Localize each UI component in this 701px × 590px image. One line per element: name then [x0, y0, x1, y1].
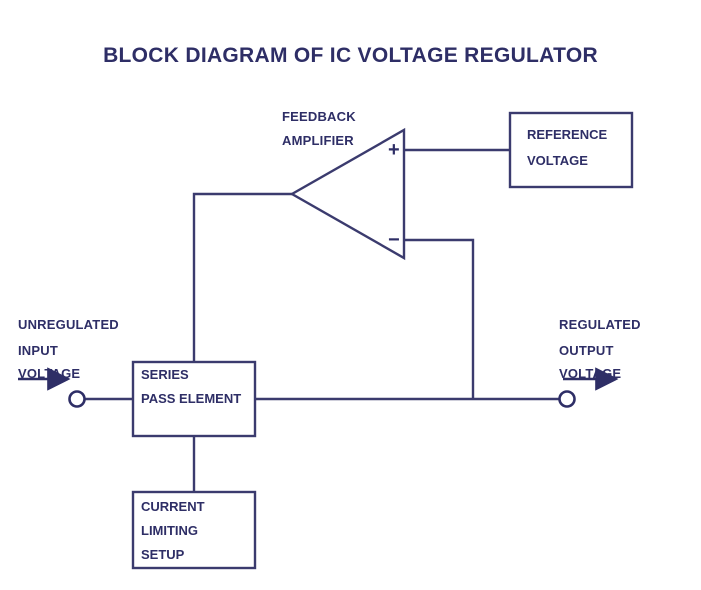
- block-diagram-canvas: BLOCK DIAGRAM OF IC VOLTAGE REGULATOR: [0, 0, 701, 590]
- amplifier-plus-sign: +: [388, 140, 400, 160]
- amplifier-minus-sign: −: [388, 230, 400, 250]
- wire-amplifier-minus-to-output-rail: [404, 240, 473, 399]
- current-limiting-setup-label-line2: LIMITING: [141, 518, 198, 544]
- diagram-wiring: [0, 0, 701, 590]
- wire-amplifier-output-to-series-pass: [194, 194, 292, 362]
- current-limiting-setup-label-line3: SETUP: [141, 542, 184, 568]
- output-terminal-circle: [560, 392, 575, 407]
- reference-voltage-label-line1: REFERENCE: [527, 122, 607, 148]
- output-port-label-line3: VOLTAGE: [559, 361, 621, 387]
- reference-voltage-label-line2: VOLTAGE: [527, 148, 588, 174]
- current-limiting-setup-label-line1: CURRENT: [141, 494, 205, 520]
- input-port-label-line1: UNREGULATED: [18, 312, 119, 338]
- series-pass-element-label-line2: PASS ELEMENT: [141, 386, 241, 412]
- feedback-amplifier-label-line1: FEEDBACK: [282, 104, 356, 130]
- output-port-label-line1: REGULATED: [559, 312, 641, 338]
- input-port-label-line3: VOLTAGE: [18, 361, 80, 387]
- feedback-amplifier-label-line2: AMPLIFIER: [282, 128, 354, 154]
- input-terminal-circle: [70, 392, 85, 407]
- series-pass-element-label-line1: SERIES: [141, 362, 189, 388]
